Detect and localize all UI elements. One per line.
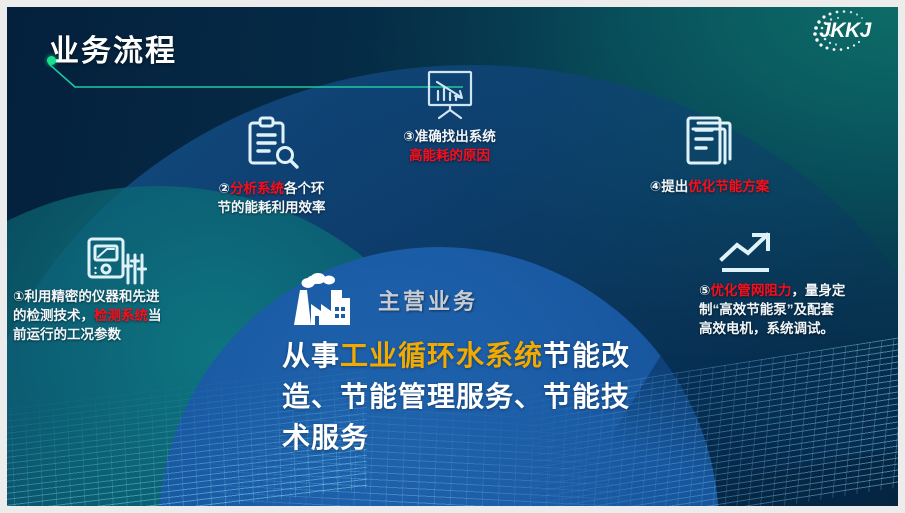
flow-node-2[interactable]: ②分析系统各个环节的能耗利用效率 — [189, 115, 354, 217]
node-1-text: ①利用精密的仪器和先进的检测技术，检测系统当前运行的工况参数 — [13, 287, 228, 344]
title-bullet-dot — [47, 56, 56, 65]
main-business-block: 主营业务 从事工业循环水系统节能改造、节能管理服务、节能技术服务 — [282, 269, 682, 458]
flow-node-3[interactable]: ③准确找出系统高能耗的原因 — [362, 69, 537, 165]
declining-bar-chart-board-icon — [421, 69, 479, 121]
node-3-text: ③准确找出系统高能耗的原因 — [362, 127, 537, 165]
node-1-icon-box — [85, 235, 228, 287]
measuring-instrument-icon — [85, 235, 147, 287]
main-business-header: 主营业务 — [282, 269, 682, 331]
documents-icon — [684, 115, 736, 169]
node-5-icon-box — [717, 229, 898, 277]
node-4-text: ④提出优化节能方案 — [592, 177, 827, 196]
main-business-label: 主营业务 — [378, 284, 478, 316]
trending-up-arrow-icon — [717, 229, 779, 277]
page-title-group: 业务流程 — [49, 35, 177, 69]
flow-node-1[interactable]: ①利用精密的仪器和先进的检测技术，检测系统当前运行的工况参数 — [13, 235, 228, 344]
node-5-text: ⑤优化管网阻力，量身定制“高效节能泵”及配套高效电机，系统调试。 — [699, 281, 898, 338]
node-3-icon-box — [362, 69, 537, 121]
node-2-text: ②分析系统各个环节的能耗利用效率 — [189, 179, 354, 217]
node-4-icon-box — [592, 115, 827, 169]
clipboard-search-icon — [242, 115, 302, 173]
flow-node-5[interactable]: ⑤优化管网阻力，量身定制“高效节能泵”及配套高效电机，系统调试。 — [699, 229, 898, 338]
factory-icon — [282, 271, 364, 329]
slide-canvas: JKKJ 业务流程 ①利用精密 — [7, 7, 898, 506]
node-2-icon-box — [189, 115, 354, 173]
flow-node-4[interactable]: ④提出优化节能方案 — [592, 115, 827, 196]
main-business-text: 从事工业循环水系统节能改造、节能管理服务、节能技术服务 — [282, 335, 682, 458]
company-logo[interactable]: JKKJ — [800, 7, 885, 53]
logo-wordmark: JKKJ — [819, 19, 873, 42]
